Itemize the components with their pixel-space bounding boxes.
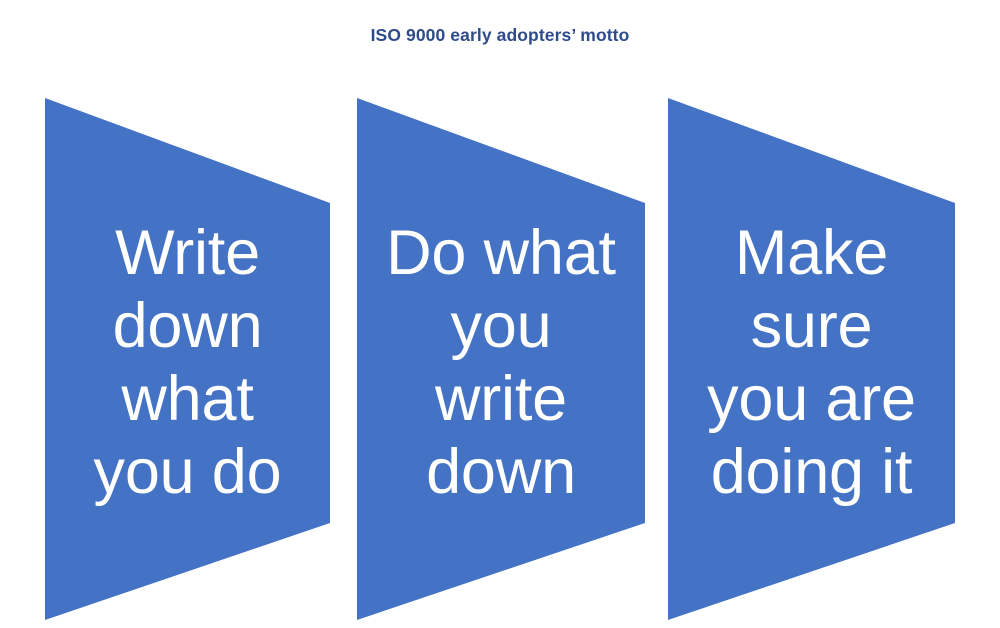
chevron-label-2: Do what you write down bbox=[357, 217, 645, 509]
chevron-2-line-1: Do what bbox=[386, 217, 616, 290]
chevron-3-line-2: sure bbox=[751, 290, 873, 363]
chevron-label-1: Write down what you do bbox=[45, 217, 330, 509]
chevron-2-line-3: write bbox=[435, 363, 567, 436]
slide-canvas: ISO 9000 early adopters’ motto Write dow… bbox=[0, 0, 1000, 628]
chevron-3-line-1: Make bbox=[735, 217, 888, 290]
chevron-1-line-1: Write bbox=[115, 217, 260, 290]
chevron-3-line-3: you are bbox=[707, 363, 916, 436]
chevron-3-line-4: doing it bbox=[711, 436, 913, 509]
chevron-2-line-4: down bbox=[426, 436, 576, 509]
chevron-1-line-3: what bbox=[121, 363, 253, 436]
chevron-label-3: Make sure you are doing it bbox=[668, 217, 955, 509]
chevron-2-line-2: you bbox=[451, 290, 552, 363]
chevron-1-line-4: you do bbox=[94, 436, 282, 509]
chevron-1-line-2: down bbox=[113, 290, 263, 363]
